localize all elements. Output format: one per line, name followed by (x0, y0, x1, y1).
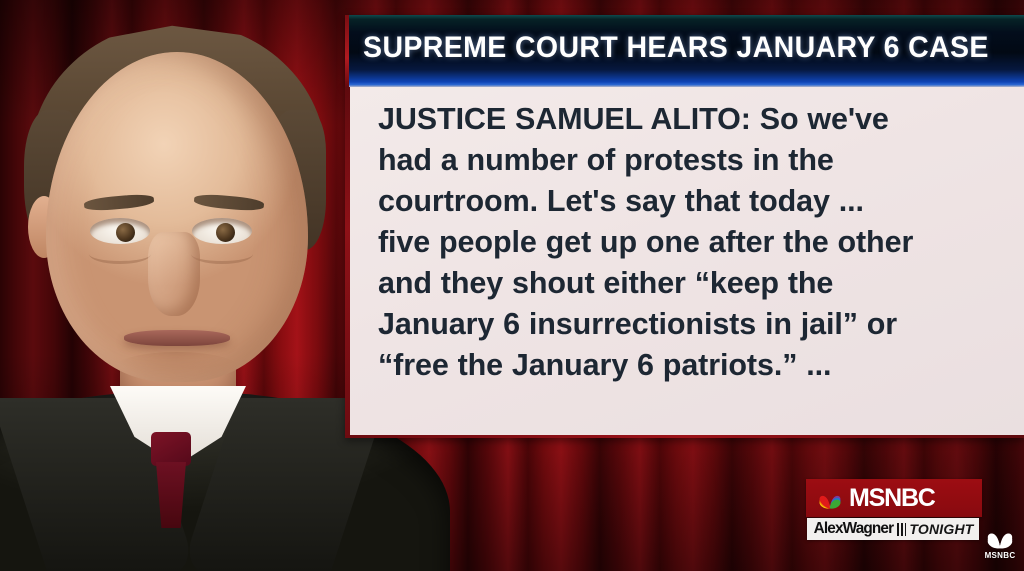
nose (148, 232, 200, 316)
quote-line: January 6 insurrectionists in jail” or (378, 304, 1002, 345)
iris-right (216, 223, 235, 242)
nbc-peacock-icon (817, 486, 843, 510)
quote-line: had a number of protests in the (378, 140, 1002, 181)
broadcast-frame: SUPREME COURT HEARS JANUARY 6 CASE JUSTI… (0, 0, 1024, 571)
program-divider-bars (897, 523, 906, 536)
quote-line: “free the January 6 patriots.” ... (378, 345, 1002, 386)
iris-left (116, 223, 135, 242)
program-suffix: TONIGHT (909, 522, 973, 536)
msnbc-logo-bar: MSNBC (806, 479, 982, 517)
chin-shadow (116, 352, 238, 382)
corner-network-bug: MSNBC (979, 522, 1021, 566)
mouth (124, 330, 230, 346)
program-name: AlexWagner (814, 521, 894, 537)
network-logo-block: MSNBC AlexWagner TONIGHT (806, 479, 982, 543)
necktie-knot (151, 432, 191, 466)
quote-bottom-accent-stripe (345, 435, 1024, 438)
msnbc-wordmark: MSNBC (849, 486, 935, 511)
quote-card: JUSTICE SAMUEL ALITO: So we've had a num… (345, 87, 1024, 438)
quote-line: JUSTICE SAMUEL ALITO: So we've (378, 99, 1002, 140)
program-name-bar: AlexWagner TONIGHT (807, 518, 979, 540)
quote-left-accent-stripe (345, 87, 350, 438)
headline-banner: SUPREME COURT HEARS JANUARY 6 CASE (345, 15, 1024, 87)
headline-text: SUPREME COURT HEARS JANUARY 6 CASE (345, 31, 989, 71)
quote-line: five people get up one after the other (378, 222, 1002, 263)
quote-line: and they shout either “keep the (378, 263, 1002, 304)
nbc-peacock-mono-icon (985, 522, 1015, 550)
under-eye-right (191, 244, 253, 264)
quote-text: JUSTICE SAMUEL ALITO: So we've had a num… (378, 99, 1002, 386)
corner-bug-label: MSNBC (985, 551, 1016, 560)
under-eye-left (89, 244, 151, 264)
subject-portrait (0, 0, 380, 571)
quote-line: courtroom. Let's say that today ... (378, 181, 1002, 222)
